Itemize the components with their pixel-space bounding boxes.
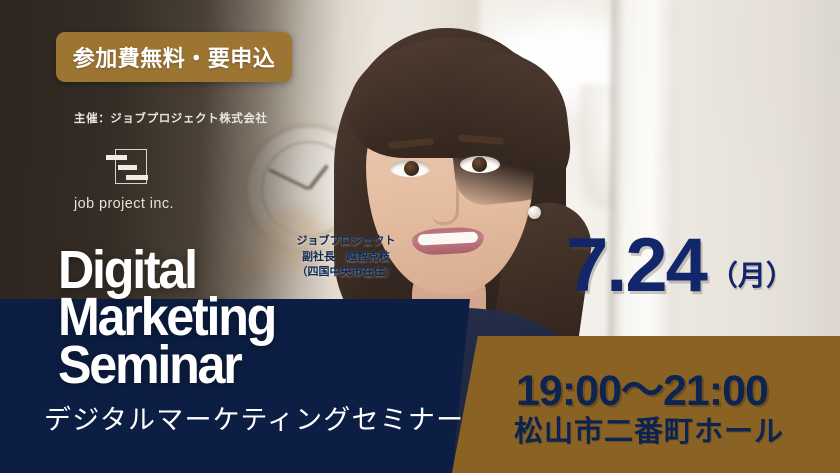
seminar-poster: 参加費無料・要申込 主催：ジョブプロジェクト株式会社 job project i…	[0, 0, 840, 473]
logo-bar	[126, 175, 148, 180]
speaker-residence: （四国中央市在住）	[284, 265, 408, 281]
speaker-role-name: 副社長 越智克枝	[284, 250, 408, 266]
date-value: 7.24	[566, 232, 706, 300]
event-date: 7.24 （月）	[566, 232, 794, 300]
host-label: 主催：ジョブプロジェクト株式会社	[74, 110, 268, 126]
company-logo: job project inc.	[74, 146, 244, 212]
title-line-3: Seminar	[58, 343, 275, 388]
date-day-of-week: （月）	[710, 254, 794, 294]
free-admission-badge: 参加費無料・要申込	[56, 32, 292, 82]
logo-bar	[118, 165, 137, 170]
speaker-caption: ジョブプロジェクト 副社長 越智克枝 （四国中央市在住）	[284, 234, 408, 281]
badge-label: 参加費無料・要申込	[73, 41, 276, 73]
job-project-logo-mark-icon	[106, 146, 148, 188]
event-venue: 松山市二番町ホール	[514, 408, 784, 450]
subtitle-japanese: デジタルマーケティングセミナー	[44, 398, 464, 437]
logo-bar	[106, 155, 127, 160]
logo-wordmark: job project inc.	[74, 196, 244, 212]
page-title: Digital Marketing Seminar	[58, 248, 291, 388]
speaker-company: ジョブプロジェクト	[284, 234, 408, 250]
